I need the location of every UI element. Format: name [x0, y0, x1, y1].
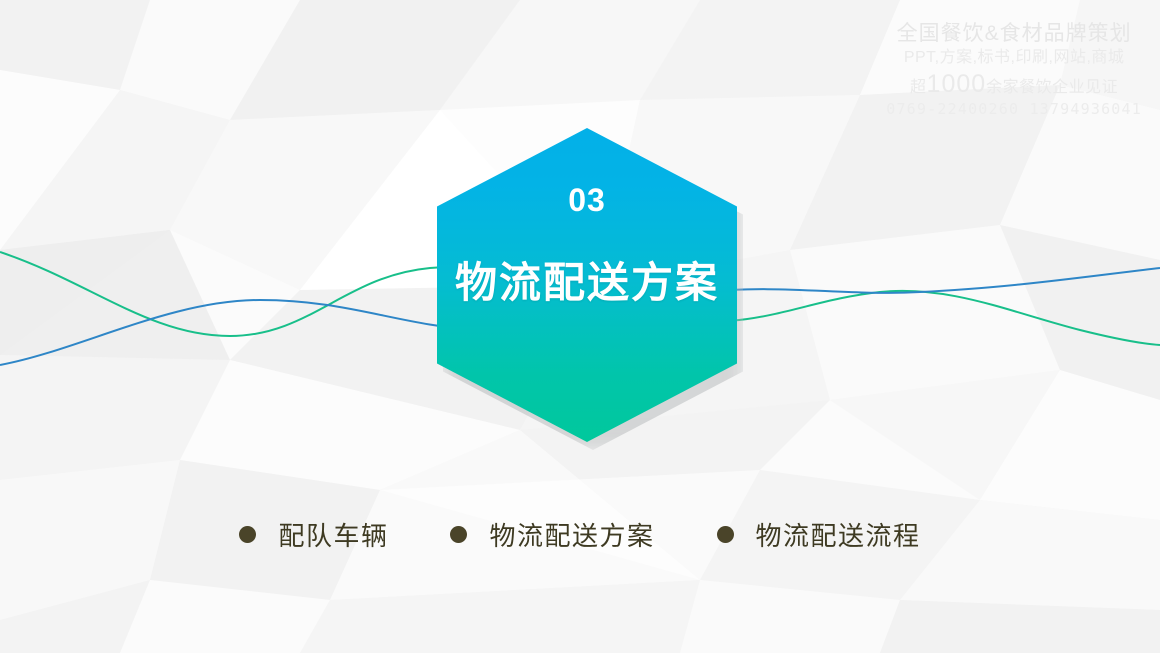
bullet-dot-icon	[239, 526, 256, 543]
section-number: 03	[568, 184, 606, 216]
list-item-label: 物流配送方案	[489, 516, 654, 553]
bullet-dot-icon	[450, 526, 467, 543]
list-item[interactable]: 配队车辆	[239, 516, 388, 553]
list-item-label: 物流配送流程	[756, 516, 921, 553]
watermark: 全国餐饮&食材品牌策划 PPT,方案,标书,印刷,网站,商城 超1000余家餐饮…	[886, 22, 1142, 119]
bullet-dot-icon	[717, 526, 734, 543]
watermark-line-3-prefix: 超	[910, 79, 927, 96]
section-topics-list: 配队车辆 物流配送方案 物流配送流程	[0, 516, 1160, 553]
list-item-label: 配队车辆	[278, 516, 388, 553]
section-hexagon: 03 物流配送方案	[437, 128, 737, 442]
watermark-line-3: 超1000余家餐饮企业见证	[886, 70, 1142, 99]
watermark-line-2: PPT,方案,标书,印刷,网站,商城	[886, 49, 1142, 67]
section-title: 物流配送方案	[455, 262, 719, 304]
watermark-line-3-suffix: 余家餐饮企业见证	[986, 79, 1118, 96]
list-item[interactable]: 物流配送流程	[717, 516, 921, 553]
watermark-line-3-number: 1000	[927, 70, 987, 98]
list-item[interactable]: 物流配送方案	[450, 516, 654, 553]
slide-canvas: 全国餐饮&食材品牌策划 PPT,方案,标书,印刷,网站,商城 超1000余家餐饮…	[0, 0, 1160, 653]
watermark-phone-numbers: 0769-22400260 13794936041	[886, 101, 1142, 118]
watermark-line-1: 全国餐饮&食材品牌策划	[886, 22, 1142, 46]
